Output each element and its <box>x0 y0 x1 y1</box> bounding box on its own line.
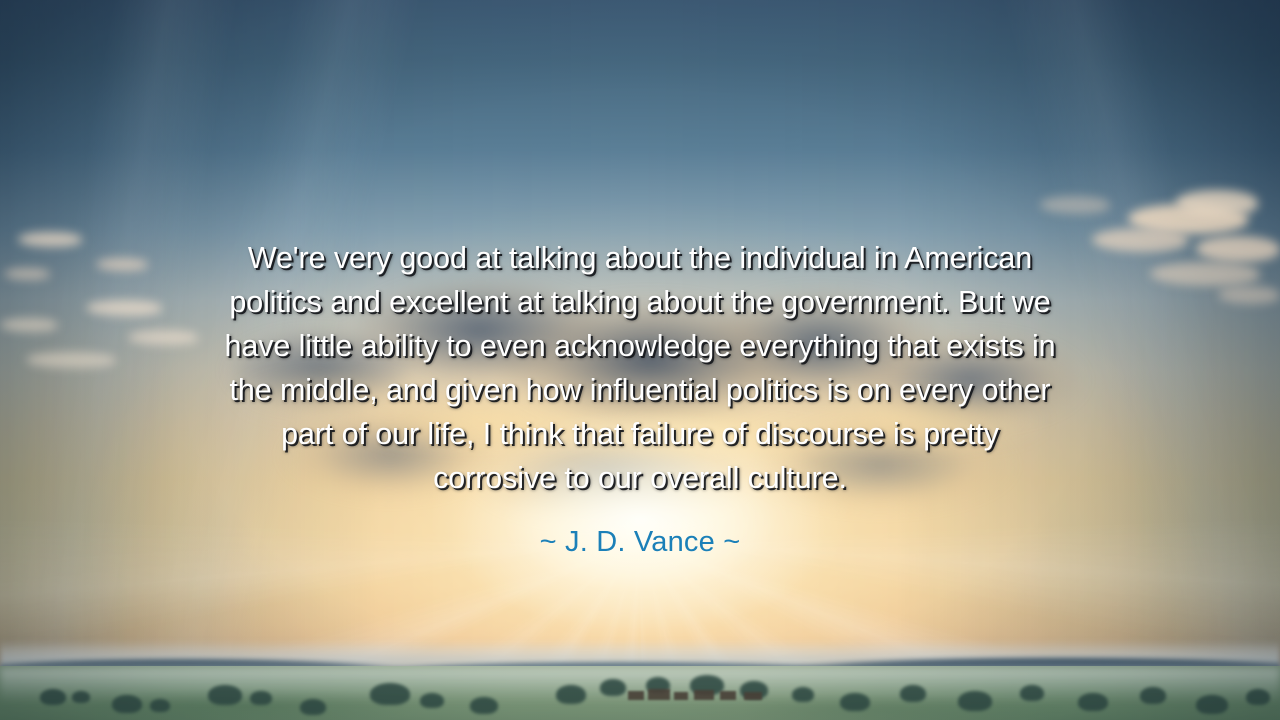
quote-card: We're very good at talking about the ind… <box>0 236 1280 562</box>
quote-author: ~ J. D. Vance ~ <box>110 500 1170 562</box>
quote-text: We're very good at talking about the ind… <box>110 236 1170 500</box>
quote-image: We're very good at talking about the ind… <box>0 0 1280 720</box>
